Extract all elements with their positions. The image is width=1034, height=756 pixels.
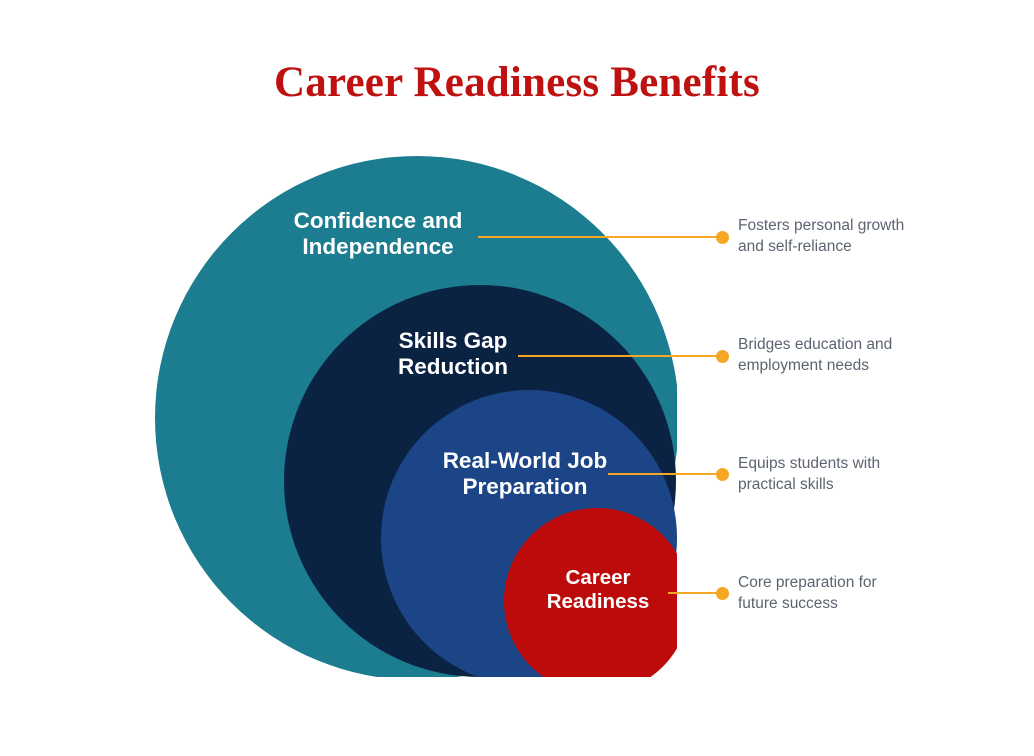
page-title: Career Readiness Benefits <box>0 58 1034 107</box>
callout-inner: Core preparation for future success <box>738 573 1006 614</box>
ring-label-inner: Career Readiness <box>510 566 686 614</box>
callout-second: Bridges education and employment needs <box>738 335 1006 376</box>
callout-third: Equips students with practical skills <box>738 454 1006 495</box>
callout-outer: Fosters personal growth and self-relianc… <box>738 216 1006 257</box>
leader-line-inner <box>668 592 722 594</box>
ring-label-third: Real-World Job Preparation <box>414 448 636 501</box>
leader-dot-outer <box>716 231 729 244</box>
infographic-canvas: Career Readiness Benefits Confidence and… <box>0 0 1034 756</box>
leader-dot-third <box>716 468 729 481</box>
leader-dot-second <box>716 350 729 363</box>
leader-dot-inner <box>716 587 729 600</box>
leader-line-second <box>518 355 722 357</box>
leader-line-outer <box>478 236 722 238</box>
leader-line-third <box>608 473 722 475</box>
ring-label-outer: Confidence and Independence <box>253 208 503 261</box>
